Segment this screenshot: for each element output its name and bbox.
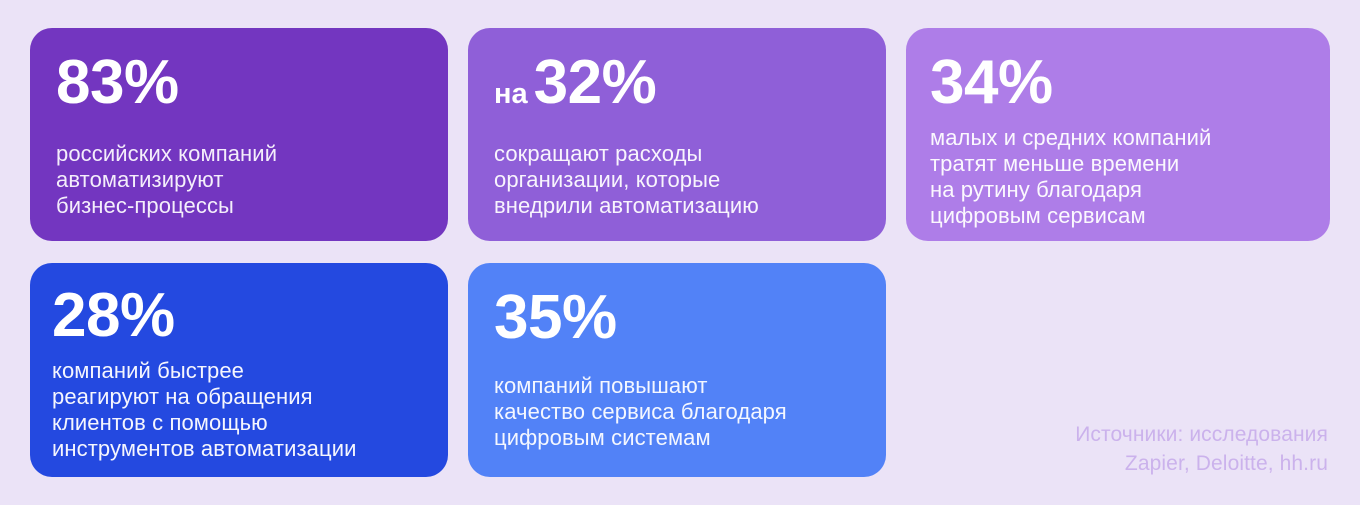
- infographic-canvas: 83% российских компаний автоматизируют б…: [0, 0, 1360, 505]
- stat-prefix: на: [494, 78, 528, 110]
- stat-caption: малых и средних компаний тратят меньше в…: [930, 125, 1308, 229]
- stat-number: 34%: [930, 54, 1308, 111]
- stat-card-service-quality: 35% компаний повышают качество сервиса б…: [468, 263, 886, 477]
- stat-caption: компаний быстрее реагируют на обращения …: [52, 358, 428, 462]
- stat-caption: российских компаний автоматизируют бизне…: [56, 141, 422, 219]
- stat-card-smb-time-saving: 34% малых и средних компаний тратят мень…: [906, 28, 1330, 241]
- sources-note: Источники: исследования Zapier, Deloitte…: [1075, 421, 1328, 479]
- stat-number: 35%: [494, 289, 860, 346]
- stat-card-cost-reduction: на32% сокращают расходы организации, кот…: [468, 28, 886, 241]
- stat-number: 83%: [56, 54, 422, 111]
- stat-number: 28%: [52, 287, 428, 344]
- stat-caption: сокращают расходы организации, которые в…: [494, 141, 860, 219]
- stat-value: 34%: [930, 48, 1053, 117]
- stat-caption: компаний повышают качество сервиса благо…: [494, 373, 860, 451]
- stat-value: 32%: [534, 48, 657, 117]
- stat-card-faster-response: 28% компаний быстрее реагируют на обраще…: [30, 263, 448, 477]
- stat-value: 35%: [494, 283, 617, 352]
- stat-value: 83%: [56, 48, 179, 117]
- stat-card-automation-share: 83% российских компаний автоматизируют б…: [30, 28, 448, 241]
- stat-number: на32%: [494, 54, 860, 111]
- stat-value: 28%: [52, 281, 175, 350]
